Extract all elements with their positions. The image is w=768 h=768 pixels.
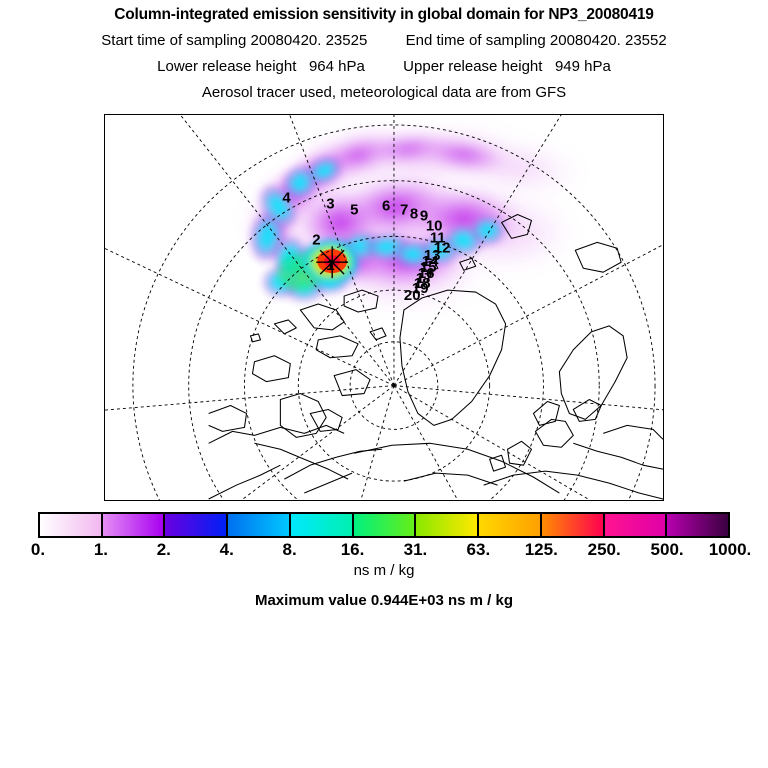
colorbar-units-label: ns m / kg — [0, 562, 768, 579]
day-label-3: 3 — [326, 196, 334, 213]
colorbar-tick-11: 1000. — [709, 540, 752, 560]
day-label-20: 20 — [404, 287, 421, 304]
colorbar-segment-2 — [165, 514, 228, 536]
colorbar-tick-8: 125. — [525, 540, 558, 560]
page-title: Column-integrated emission sensitivity i… — [0, 6, 768, 24]
lower-release-label: Lower release height — [157, 58, 296, 75]
colorbar-segment-1 — [103, 514, 166, 536]
colorbar-segment-3 — [228, 514, 291, 536]
release-height-row: Lower release height 964 hPa Upper relea… — [0, 58, 768, 75]
day-label-2: 2 — [312, 231, 320, 248]
end-time-value: 20080420. 23552 — [550, 32, 667, 49]
colorbar-segment-0 — [40, 514, 103, 536]
colorbar-tick-0: 0. — [31, 540, 45, 560]
day-label-7: 7 — [400, 201, 408, 218]
colorbar-tick-10: 500. — [651, 540, 684, 560]
colorbar — [38, 512, 730, 538]
colorbar-segment-8 — [542, 514, 605, 536]
start-time-value: 20080420. 23525 — [251, 32, 368, 49]
colorbar-segment-10 — [667, 514, 728, 536]
colorbar-tick-7: 63. — [467, 540, 491, 560]
map-panel: 1 2 3 4 5 6 7 8 9 10 11 12 13 14 15 16 1 — [104, 114, 664, 501]
lower-release-value: 964 hPa — [309, 58, 365, 75]
colorbar-tick-5: 16. — [341, 540, 365, 560]
colorbar-tick-3: 4. — [220, 540, 234, 560]
colorbar-tick-6: 31. — [404, 540, 428, 560]
end-time-label: End time of sampling — [406, 32, 546, 49]
colorbar-tick-labels: 0.1.2.4.8.16.31.63.125.250.500.1000. — [0, 540, 768, 562]
upper-release-label: Upper release height — [403, 58, 542, 75]
day-label-5: 5 — [350, 201, 358, 218]
day-label-8: 8 — [410, 205, 418, 222]
day-label-6: 6 — [382, 198, 390, 215]
plot-page: Column-integrated emission sensitivity i… — [0, 0, 768, 768]
sampling-time-row: Start time of sampling 20080420. 23525 E… — [0, 32, 768, 49]
colorbar-segment-6 — [416, 514, 479, 536]
upper-release-value: 949 hPa — [555, 58, 611, 75]
map-canvas: 1 2 3 4 5 6 7 8 9 10 11 12 13 14 15 16 1 — [105, 115, 663, 500]
colorbar-segment-4 — [291, 514, 354, 536]
maximum-value-label: Maximum value 0.944E+03 ns m / kg — [0, 592, 768, 609]
day-label-4: 4 — [282, 190, 291, 207]
day-label-1: 1 — [326, 257, 334, 274]
colorbar-segment-5 — [354, 514, 417, 536]
colorbar-segment-7 — [479, 514, 542, 536]
colorbar-tick-1: 1. — [94, 540, 108, 560]
colorbar-gradient — [38, 512, 730, 538]
colorbar-tick-2: 2. — [157, 540, 171, 560]
colorbar-tick-9: 250. — [588, 540, 621, 560]
tracer-note: Aerosol tracer used, meteorological data… — [0, 84, 768, 101]
colorbar-segment-9 — [605, 514, 668, 536]
start-time-label: Start time of sampling — [101, 32, 246, 49]
colorbar-tick-4: 8. — [283, 540, 297, 560]
